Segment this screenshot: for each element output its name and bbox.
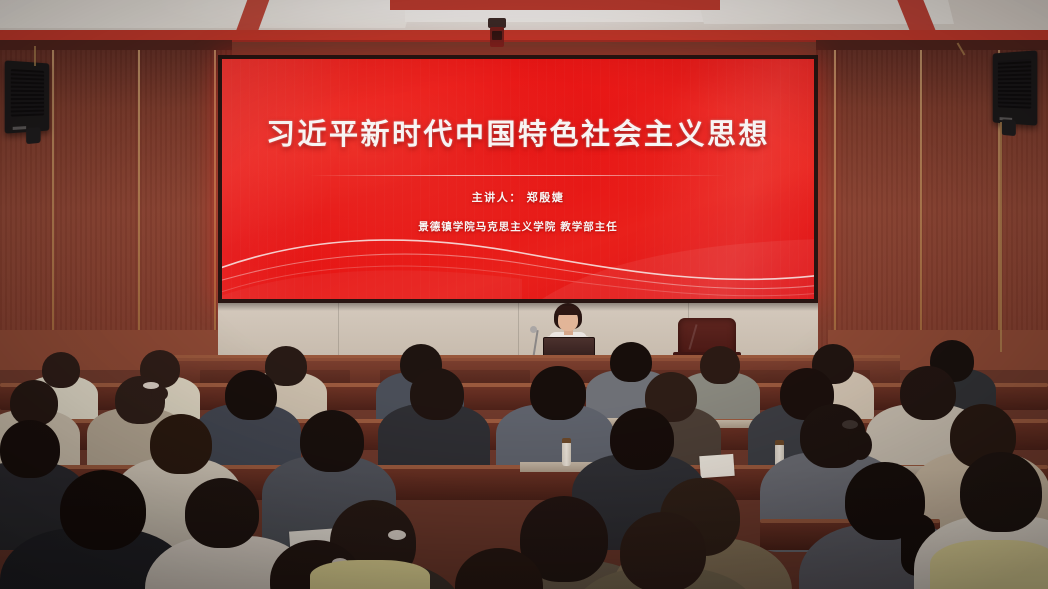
water-bottle-icon bbox=[562, 442, 571, 466]
speaker-grill bbox=[998, 59, 1031, 109]
screen-sheen bbox=[222, 59, 814, 299]
wall-seam bbox=[214, 40, 216, 350]
ceiling-projector-lens-icon bbox=[492, 31, 502, 40]
lecture-hall-photo: 习近平新时代中国特色社会主义思想 主讲人： 郑殷婕 景德镇学院马克思主义学院 教… bbox=[0, 0, 1048, 589]
led-screen[interactable]: 习近平新时代中国特色社会主义思想 主讲人： 郑殷婕 景德镇学院马克思主义学院 教… bbox=[222, 59, 814, 299]
ceiling-beam bbox=[390, 0, 720, 10]
microphone-head-icon bbox=[530, 326, 537, 333]
speaker-grill bbox=[11, 69, 44, 117]
speaker-cable bbox=[1000, 122, 1002, 352]
wall-trim-right bbox=[816, 40, 1048, 50]
ceiling bbox=[0, 0, 1048, 42]
speaker-cable bbox=[34, 46, 36, 66]
wall-speaker-left-icon bbox=[5, 60, 50, 133]
speaker-mount bbox=[26, 127, 41, 144]
wall-seam bbox=[52, 40, 54, 350]
backwall-shadow bbox=[218, 303, 818, 311]
paper-sheet bbox=[699, 454, 734, 478]
speaker-mount bbox=[1001, 119, 1016, 136]
led-screen-frame: 习近平新时代中国特色社会主义思想 主讲人： 郑殷婕 景德镇学院马克思主义学院 教… bbox=[218, 55, 818, 303]
slide-divider bbox=[310, 175, 726, 176]
slide-affiliation-line: 景德镇学院马克思主义学院 教学部主任 bbox=[222, 219, 814, 234]
wall-speaker-right-icon bbox=[993, 50, 1038, 125]
slide-speaker-line: 主讲人： 郑殷婕 bbox=[222, 189, 814, 205]
wall-seam bbox=[138, 40, 140, 350]
wall-seam bbox=[920, 40, 922, 350]
presenter-fringe bbox=[556, 306, 580, 315]
speaker-badge bbox=[13, 126, 26, 130]
bottle-cap-icon bbox=[775, 440, 784, 445]
wall-seam bbox=[834, 40, 836, 350]
bottle-cap-icon bbox=[562, 438, 571, 443]
chair-highlight bbox=[688, 324, 697, 350]
slide-title: 习近平新时代中国特色社会主义思想 bbox=[222, 111, 814, 153]
